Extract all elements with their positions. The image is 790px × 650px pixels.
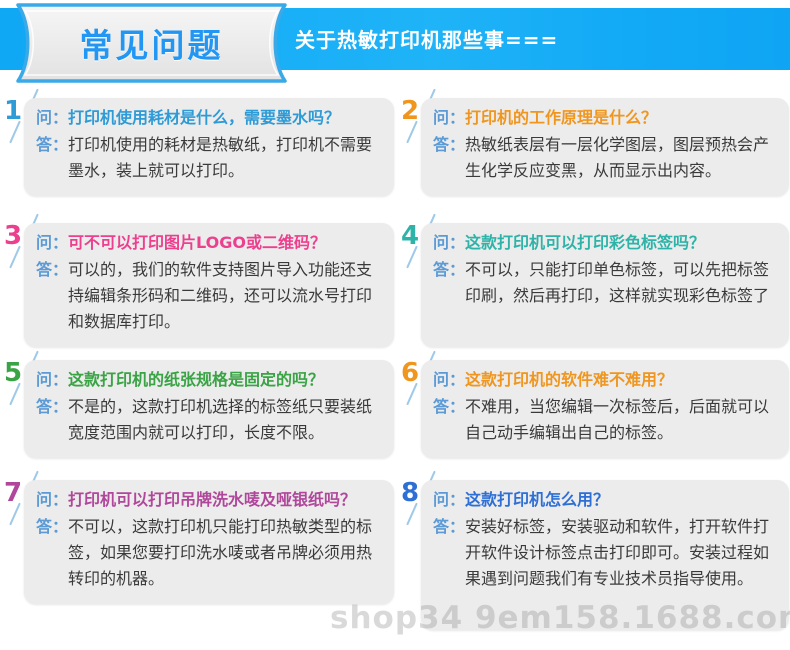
faq-number: 7 bbox=[0, 480, 26, 506]
question-label: 问： bbox=[36, 230, 68, 256]
faq-number: 5 bbox=[0, 360, 26, 386]
faq-answer-text: 热敏纸表层有一层化学图层，图层预热会产生化学反应变黑，从而显示出内容。 bbox=[465, 132, 777, 184]
faq-card: 问：这款打印机的软件难不难用？答：不难用，当您编辑一次标签后，后面就可以自己动手… bbox=[421, 360, 789, 458]
faq-answer-text: 安装好标签，安装驱动和软件，打开软件打开软件设计标签点击打印即可。安装过程如果遇… bbox=[465, 514, 777, 592]
faq-card: 问：这款打印机怎么用？答：安装好标签，安装驱动和软件，打开软件打开软件设计标签点… bbox=[421, 480, 789, 630]
faq-number: 6 bbox=[397, 360, 423, 386]
faq-question-row: 问：打印机可以打印吊牌洗水唛及哑银纸吗？ bbox=[36, 487, 382, 513]
faq-card: 问：这款打印机可以打印彩色标签吗？答：不可以，只能打印单色标签，可以先把标签印刷… bbox=[421, 223, 789, 347]
faq-question-row: 问：这款打印机的软件难不难用？ bbox=[433, 367, 777, 393]
faq-answer-row: 答：安装好标签，安装驱动和软件，打开软件打开软件设计标签点击打印即可。安装过程如… bbox=[433, 514, 777, 592]
header-subtitle: 关于热敏打印机那些事=== bbox=[295, 24, 558, 53]
faq-answer-row: 答：不是的，这款打印机选择的标签纸只要装纸宽度范围内就可以打印，长度不限。 bbox=[36, 394, 382, 446]
answer-label: 答： bbox=[433, 257, 465, 283]
faq-question-text: 可不可以打印图片LOGO或二维码？ bbox=[68, 230, 382, 256]
header-ribbon: 常见问题 bbox=[14, 2, 289, 84]
faq-answer-row: 答：不难用，当您编辑一次标签后，后面就可以自己动手编辑出自己的标签。 bbox=[433, 394, 777, 446]
question-label: 问： bbox=[36, 367, 68, 393]
faq-card: 问：这款打印机的纸张规格是固定的吗？答：不是的，这款打印机选择的标签纸只要装纸宽… bbox=[24, 360, 394, 458]
faq-number: 4 bbox=[397, 223, 423, 249]
faq-question-text: 打印机可以打印吊牌洗水唛及哑银纸吗？ bbox=[68, 487, 382, 513]
faq-answer-text: 不可以，只能打印单色标签，可以先把标签印刷，然后再打印，这样就实现彩色标签了 bbox=[465, 257, 777, 309]
faq-question-row: 问：这款打印机怎么用？ bbox=[433, 487, 777, 513]
answer-label: 答： bbox=[433, 132, 465, 158]
question-label: 问： bbox=[433, 487, 465, 513]
answer-label: 答： bbox=[36, 394, 68, 420]
faq-number: 1 bbox=[0, 98, 26, 124]
page-header: 关于热敏打印机那些事=== 常见问题 bbox=[0, 0, 790, 88]
faq-question-text: 这款打印机怎么用？ bbox=[465, 487, 777, 513]
faq-question-row: 问：这款打印机可以打印彩色标签吗？ bbox=[433, 230, 777, 256]
faq-answer-row: 答：打印机使用的耗材是热敏纸，打印机不需要墨水，装上就可以打印。 bbox=[36, 132, 382, 184]
faq-question-row: 问：这款打印机的纸张规格是固定的吗？ bbox=[36, 367, 382, 393]
faq-answer-text: 不是的，这款打印机选择的标签纸只要装纸宽度范围内就可以打印，长度不限。 bbox=[68, 394, 382, 446]
faq-question-text: 这款打印机的纸张规格是固定的吗？ bbox=[68, 367, 382, 393]
faq-list: 1问：打印机使用耗材是什么，需要墨水吗？答：打印机使用的耗材是热敏纸，打印机不需… bbox=[0, 88, 790, 650]
faq-question-text: 这款打印机可以打印彩色标签吗？ bbox=[465, 230, 777, 256]
faq-answer-text: 不难用，当您编辑一次标签后，后面就可以自己动手编辑出自己的标签。 bbox=[465, 394, 777, 446]
faq-question-text: 这款打印机的软件难不难用？ bbox=[465, 367, 777, 393]
question-label: 问： bbox=[433, 367, 465, 393]
faq-question-row: 问：打印机使用耗材是什么，需要墨水吗？ bbox=[36, 105, 382, 131]
question-label: 问： bbox=[36, 105, 68, 131]
question-label: 问： bbox=[433, 230, 465, 256]
faq-number: 8 bbox=[397, 480, 423, 506]
faq-card: 问：可不可以打印图片LOGO或二维码？答：可以的，我们的软件支持图片导入功能还支… bbox=[24, 223, 394, 347]
faq-answer-row: 答：不可以，这款打印机只能打印热敏类型的标签，如果您要打印洗水唛或者吊牌必须用热… bbox=[36, 514, 382, 592]
answer-label: 答： bbox=[433, 394, 465, 420]
faq-number: 2 bbox=[397, 98, 423, 124]
faq-question-text: 打印机使用耗材是什么，需要墨水吗？ bbox=[68, 105, 382, 131]
faq-question-row: 问：可不可以打印图片LOGO或二维码？ bbox=[36, 230, 382, 256]
faq-number: 3 bbox=[0, 223, 26, 249]
answer-label: 答： bbox=[36, 514, 68, 540]
faq-card: 问：打印机可以打印吊牌洗水唛及哑银纸吗？答：不可以，这款打印机只能打印热敏类型的… bbox=[24, 480, 394, 604]
faq-answer-row: 答：可以的，我们的软件支持图片导入功能还支持编辑条形码和二维码，还可以流水号打印… bbox=[36, 257, 382, 335]
answer-label: 答： bbox=[433, 514, 465, 540]
ribbon-shape-icon bbox=[14, 2, 289, 84]
faq-card: 问：打印机的工作原理是什么？答：热敏纸表层有一层化学图层，图层预热会产生化学反应… bbox=[421, 98, 789, 196]
faq-question-text: 打印机的工作原理是什么？ bbox=[465, 105, 777, 131]
answer-label: 答： bbox=[36, 257, 68, 283]
faq-answer-row: 答：不可以，只能打印单色标签，可以先把标签印刷，然后再打印，这样就实现彩色标签了 bbox=[433, 257, 777, 309]
faq-card: 问：打印机使用耗材是什么，需要墨水吗？答：打印机使用的耗材是热敏纸，打印机不需要… bbox=[24, 98, 394, 196]
faq-question-row: 问：打印机的工作原理是什么？ bbox=[433, 105, 777, 131]
question-label: 问： bbox=[433, 105, 465, 131]
faq-answer-text: 打印机使用的耗材是热敏纸，打印机不需要墨水，装上就可以打印。 bbox=[68, 132, 382, 184]
faq-answer-text: 不可以，这款打印机只能打印热敏类型的标签，如果您要打印洗水唛或者吊牌必须用热转印… bbox=[68, 514, 382, 592]
faq-answer-text: 可以的，我们的软件支持图片导入功能还支持编辑条形码和二维码，还可以流水号打印和数… bbox=[68, 257, 382, 335]
answer-label: 答： bbox=[36, 132, 68, 158]
question-label: 问： bbox=[36, 487, 68, 513]
faq-answer-row: 答：热敏纸表层有一层化学图层，图层预热会产生化学反应变黑，从而显示出内容。 bbox=[433, 132, 777, 184]
